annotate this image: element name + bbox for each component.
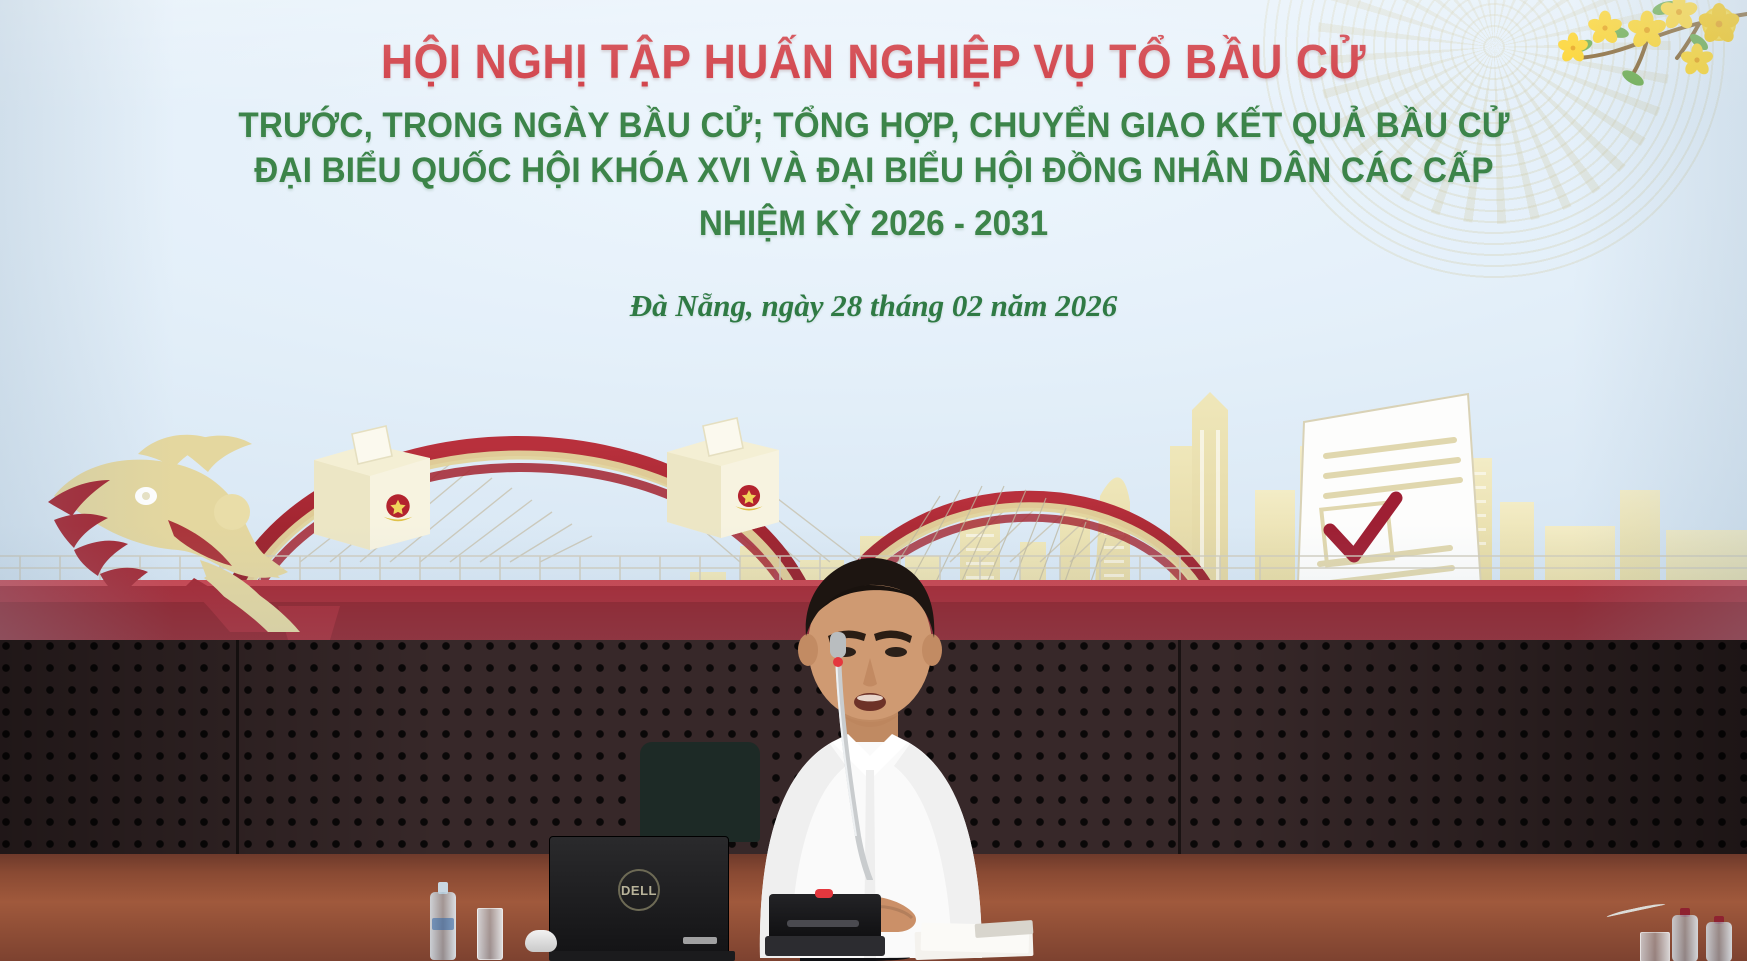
banner-title: HỘI NGHỊ TẬP HUẤN NGHIỆP VỤ TỔ BẦU CỬ (61, 38, 1686, 88)
laptop-brand-label: DELL (621, 883, 657, 898)
banner-term-line: NHIỆM KỲ 2026 - 2031 (44, 204, 1704, 244)
drinking-glass-right[interactable] (1640, 932, 1670, 961)
water-bottle-right[interactable] (1672, 908, 1698, 961)
ballot-box-left-icon (300, 420, 440, 550)
banner-subtitle: TRƯỚC, TRONG NGÀY BẦU CỬ; TỔNG HỢP, CHUY… (199, 104, 1548, 194)
water-bottle[interactable] (430, 882, 456, 960)
screenshot-frame: HỘI NGHỊ TẬP HUẤN NGHIỆP VỤ TỔ BẦU CỬ TR… (0, 0, 1747, 961)
drinking-glass[interactable] (477, 908, 503, 960)
banner-date-line: Đà Nẵng, ngày 28 tháng 02 năm 2026 (0, 288, 1747, 324)
microphone-cable (800, 952, 910, 961)
dragon-head-icon (18, 392, 318, 632)
conference-room: DELL (0, 640, 1747, 961)
banner-subtitle-line-2: ĐẠI BIỂU QUỐC HỘI KHÓA XVI VÀ ĐẠI BIỂU H… (199, 149, 1548, 194)
documents[interactable] (915, 922, 1035, 958)
conference-microphone-unit[interactable] (765, 894, 885, 956)
banner-subtitle-line-1: TRƯỚC, TRONG NGÀY BẦU CỬ; TỔNG HỢP, CHUY… (199, 104, 1548, 149)
water-bottle-right-2[interactable] (1706, 916, 1732, 961)
banner-text-block: HỘI NGHỊ TẬP HUẤN NGHIỆP VỤ TỔ BẦU CỬ TR… (0, 0, 1747, 324)
laptop[interactable]: DELL (549, 836, 729, 954)
computer-mouse[interactable] (525, 930, 557, 952)
gooseneck-microphone (790, 630, 900, 880)
